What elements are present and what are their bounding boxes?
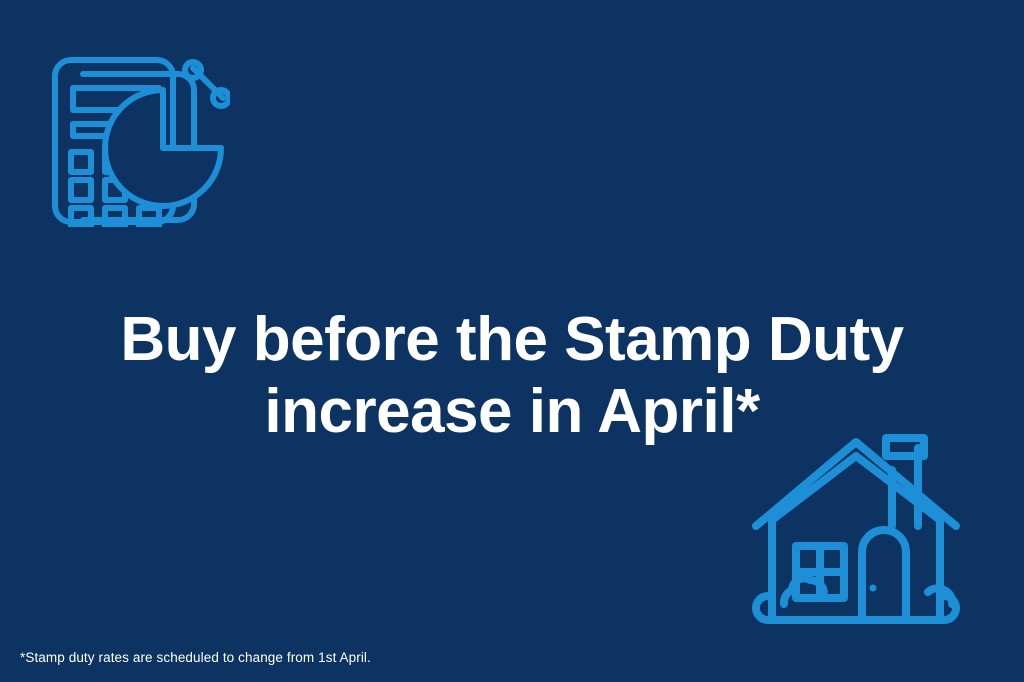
house-icon [742, 424, 970, 636]
footnote-disclaimer: *Stamp duty rates are scheduled to chang… [20, 649, 371, 667]
calculator-icon-svg [45, 52, 230, 227]
house-door-knob [870, 585, 877, 592]
house-window-mullions [796, 546, 844, 598]
stamp-duty-promo-banner: Buy before the Stamp Duty increase in Ap… [0, 0, 1024, 682]
house-door [862, 530, 906, 620]
house-icon-svg [742, 424, 970, 636]
calculator-key-1 [71, 152, 91, 172]
calculator-key-4 [71, 180, 91, 200]
headline-line-1: Buy before the Stamp Duty [0, 304, 1024, 376]
calculator-pie-chart-percent-icon [45, 52, 230, 227]
